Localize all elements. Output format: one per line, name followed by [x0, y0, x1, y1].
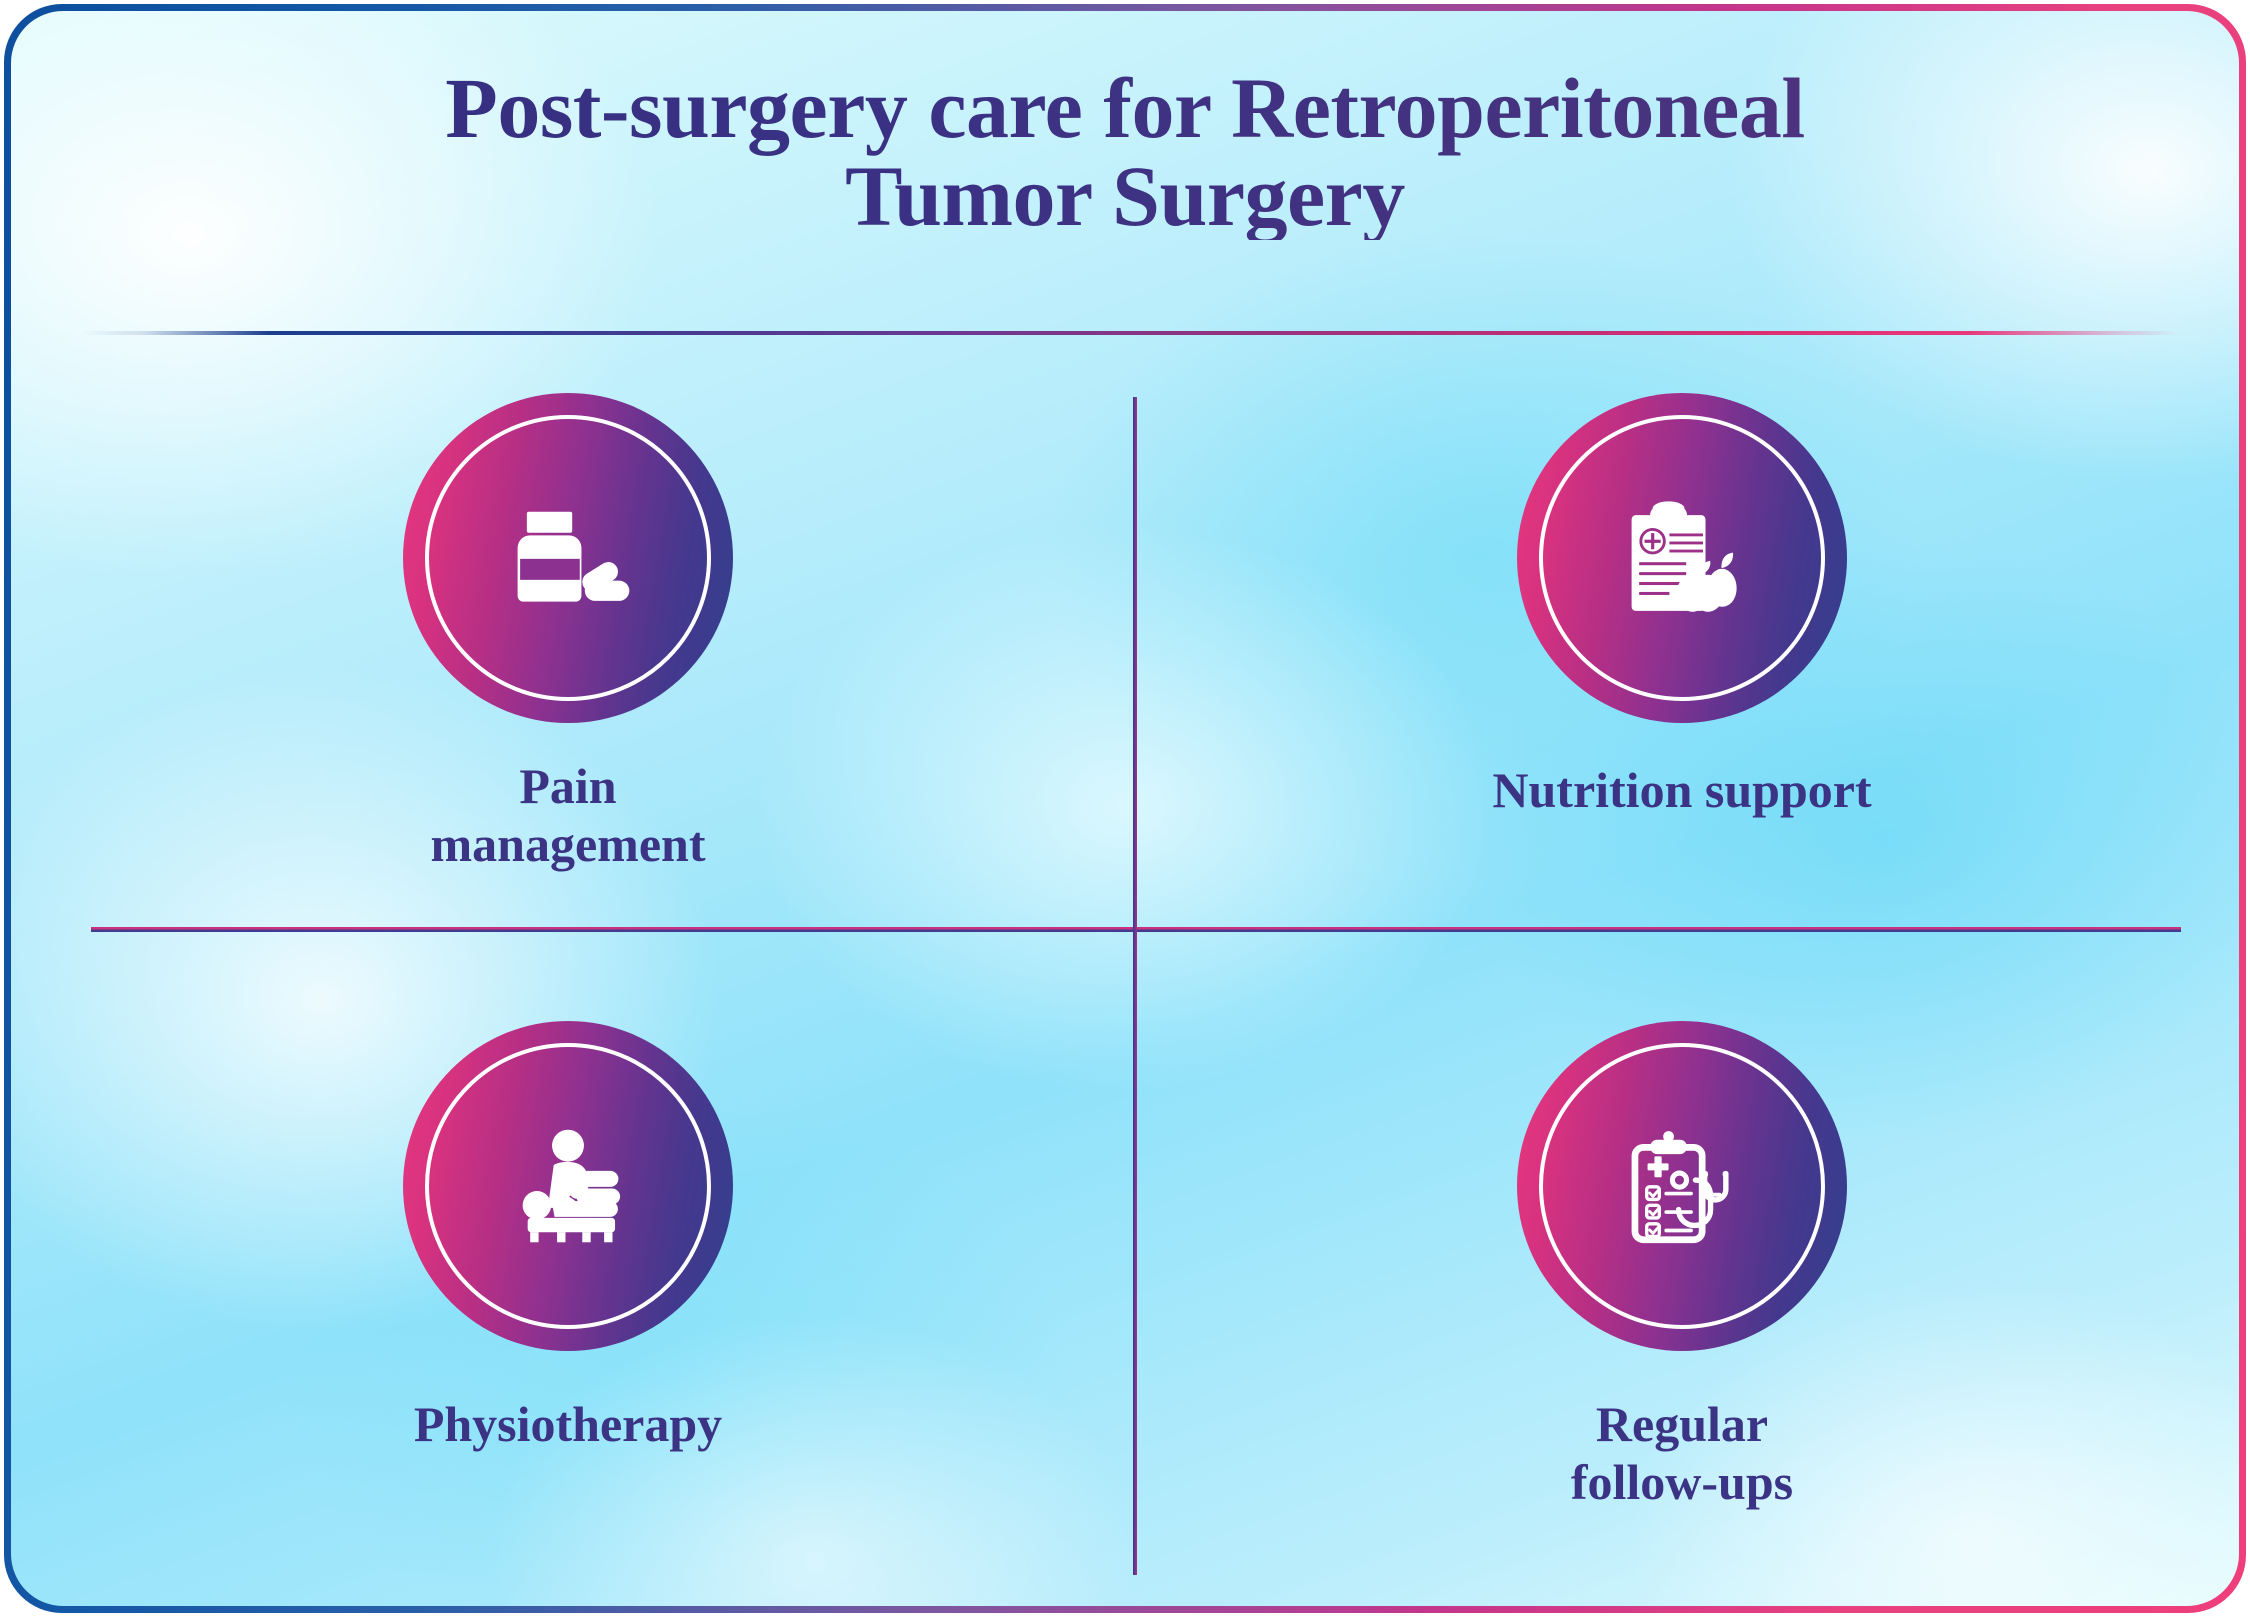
infographic-root: Post-surgery care for RetroperitonealTum…	[0, 0, 2250, 1617]
page-title-wrap: Post-surgery care for RetroperitonealTum…	[11, 65, 2239, 240]
page-title: Post-surgery care for RetroperitonealTum…	[11, 65, 2239, 240]
care-item-physiotherapy[interactable]: Physiotherapy	[11, 981, 1125, 1591]
nutrition-clipboard-badge	[1517, 393, 1847, 723]
care-item-label: Pain management	[431, 757, 706, 873]
care-item-label: Nutrition support	[1492, 761, 1871, 819]
infographic-canvas: Post-surgery care for RetroperitonealTum…	[11, 11, 2239, 1606]
title-divider	[81, 331, 2179, 335]
gradient-border-frame: Post-surgery care for RetroperitonealTum…	[4, 4, 2246, 1613]
physiotherapy-badge	[403, 1021, 733, 1351]
care-item-pain-management[interactable]: Pain management	[11, 371, 1125, 981]
nutrition-clipboard-icon	[1598, 474, 1766, 642]
page-title-line-2: Tumor Surgery	[845, 148, 1405, 244]
pill-bottle-badge	[403, 393, 733, 723]
care-item-label: Physiotherapy	[414, 1395, 722, 1453]
checklist-stethoscope-badge	[1517, 1021, 1847, 1351]
checklist-stethoscope-icon	[1598, 1102, 1766, 1270]
care-item-label: Regular follow-ups	[1571, 1395, 1793, 1511]
care-item-regular-follow-ups[interactable]: Regular follow-ups	[1125, 981, 2239, 1591]
quadrant-grid: Pain management	[11, 371, 2239, 1591]
physiotherapy-icon	[484, 1102, 652, 1270]
care-item-nutrition-support[interactable]: Nutrition support	[1125, 371, 2239, 981]
pill-bottle-icon	[484, 474, 652, 642]
page-title-line-1: Post-surgery care for Retroperitoneal	[445, 60, 1804, 156]
